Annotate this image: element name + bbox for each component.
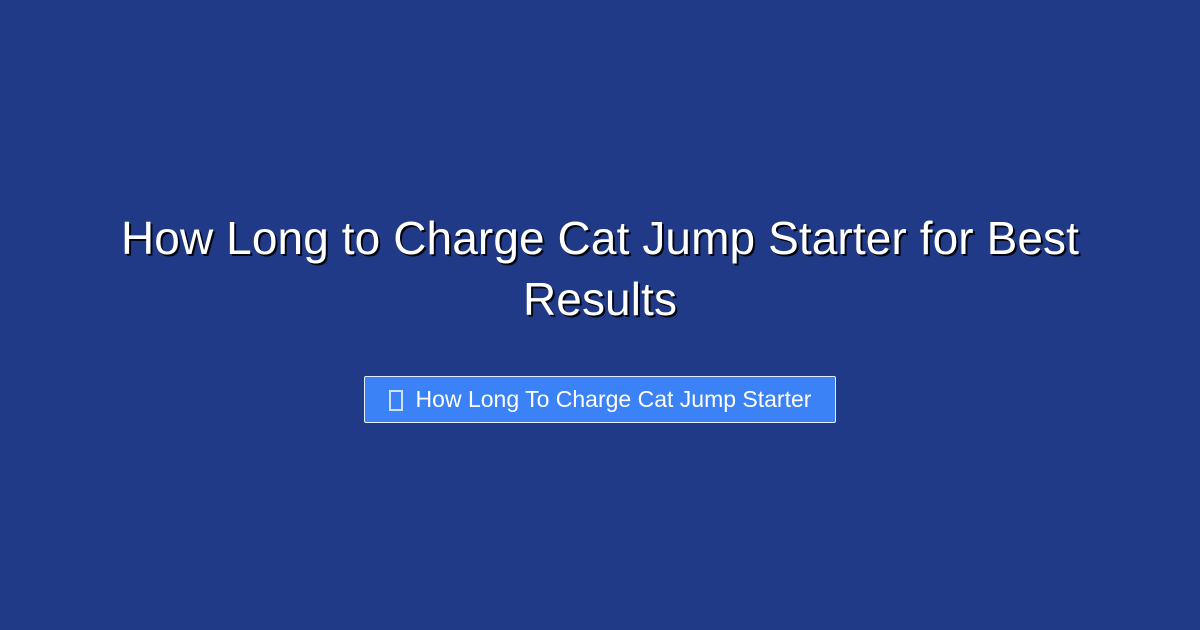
social-share-card: How Long to Charge Cat Jump Starter for … xyxy=(0,0,1200,630)
page-title: How Long to Charge Cat Jump Starter for … xyxy=(95,208,1105,330)
title-block: How Long to Charge Cat Jump Starter for … xyxy=(95,208,1105,330)
cta-button-label: How Long To Charge Cat Jump Starter xyxy=(416,388,812,411)
cta-wrapper: How Long To Charge Cat Jump Starter xyxy=(0,376,1200,423)
cta-button[interactable]: How Long To Charge Cat Jump Starter xyxy=(364,376,837,423)
tofu-missing-glyph-icon xyxy=(389,390,403,411)
